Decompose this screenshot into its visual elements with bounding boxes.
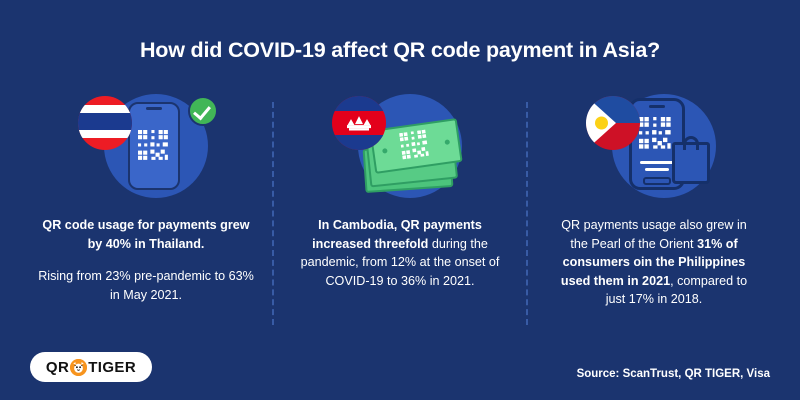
columns-container: QR code usage for payments grew by 40% i… — [30, 84, 770, 339]
column-divider-1 — [272, 102, 274, 325]
infographic-canvas: How did COVID-19 affect QR code payment … — [0, 0, 800, 400]
caption-thailand: QR code usage for payments grew by 40% i… — [35, 216, 257, 304]
phone-speaker — [649, 105, 665, 108]
column-cambodia: In Cambodia, QR payments increased three… — [284, 84, 516, 339]
text-philippines: QR payments usage also grew in the Pearl… — [551, 216, 757, 309]
headline-thailand: QR code usage for payments grew by 40% i… — [35, 216, 257, 253]
column-thailand: QR code usage for payments grew by 40% i… — [30, 84, 262, 339]
angkor-wat-icon — [346, 116, 372, 131]
caption-cambodia: In Cambodia, QR payments increased three… — [297, 216, 503, 290]
column-divider-2 — [526, 102, 528, 325]
philippines-flag — [586, 96, 640, 150]
logo-prefix: QR — [46, 359, 69, 376]
text-cambodia: In Cambodia, QR payments increased three… — [297, 216, 503, 290]
cambodia-flag — [332, 96, 386, 150]
illustration-thailand — [66, 84, 226, 202]
qr-code-icon — [138, 130, 172, 164]
phone-button — [643, 177, 671, 185]
tiger-face-icon — [70, 359, 87, 376]
page-title: How did COVID-19 affect QR code payment … — [0, 36, 800, 64]
thailand-flag — [78, 96, 132, 150]
qr-code-icon — [639, 117, 675, 153]
column-philippines: QR payments usage also grew in the Pearl… — [538, 84, 770, 339]
illustration-cambodia — [320, 84, 480, 202]
illustration-philippines — [574, 84, 734, 202]
smartphone-icon — [128, 102, 180, 190]
detail-thailand: Rising from 23% pre-pandemic to 63% in M… — [35, 267, 257, 304]
logo-suffix: TIGER — [88, 359, 136, 376]
shopping-bag-icon — [672, 142, 710, 184]
phone-speaker — [146, 107, 162, 110]
qr-tiger-logo[interactable]: QR TIGER — [30, 352, 152, 382]
phone-text-line — [640, 161, 674, 164]
green-check-badge-icon — [188, 96, 218, 126]
logo-text: QR TIGER — [46, 359, 136, 376]
phone-text-line — [645, 168, 669, 171]
qr-code-icon — [399, 129, 433, 163]
source-attribution: Source: ScanTrust, QR TIGER, Visa — [577, 368, 770, 380]
caption-philippines: QR payments usage also grew in the Pearl… — [551, 216, 757, 309]
